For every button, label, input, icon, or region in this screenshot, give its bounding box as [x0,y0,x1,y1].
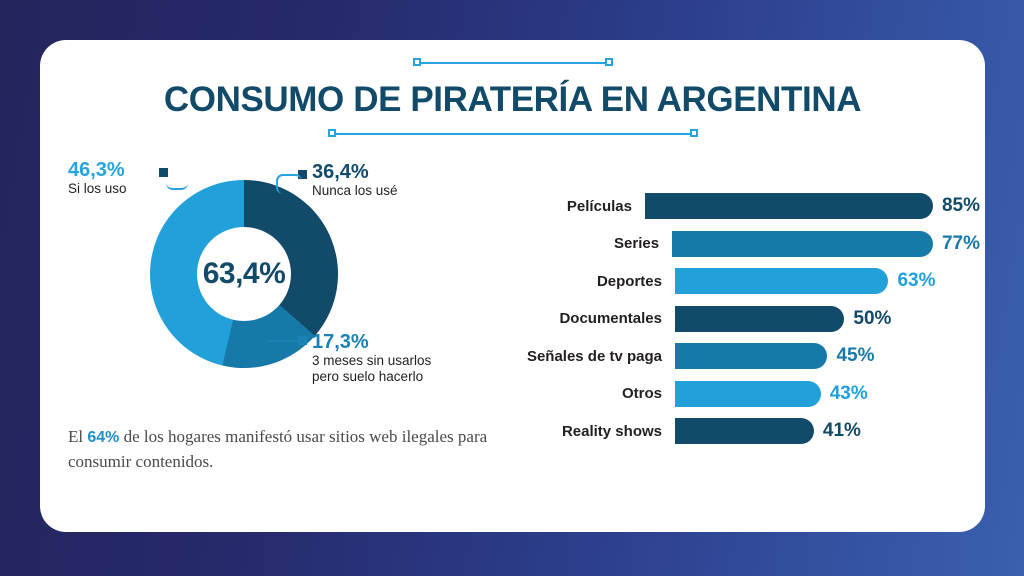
donut-hole: 63,4% [197,227,291,321]
bar-fill [672,231,933,257]
bar-track: 41% [675,418,980,444]
bar-category-label: Otros [510,385,675,402]
bar-row: Documentales50% [510,303,980,335]
bar-value-label: 77% [942,233,980,255]
bar-category-label: Reality shows [510,423,675,440]
bar-value-label: 63% [897,270,935,292]
bar-chart: Películas85%Series77%Deportes63%Document… [510,190,980,453]
donut-label-si-los-uso: 46,3% Si los uso [68,160,127,197]
bar-track: 50% [675,306,980,332]
footnote-text: El 64% de los hogares manifestó usar sit… [68,425,488,474]
rule-line [419,62,607,64]
bar-category-label: Series [510,235,672,252]
bar-value-label: 50% [853,308,891,330]
bar-fill [675,343,827,369]
leader-line [276,174,302,194]
bar-value-label: 43% [830,383,868,405]
decorative-rule-bottom [328,129,698,139]
bar-track: 77% [672,231,980,257]
bar-track: 63% [675,268,980,294]
title-block: CONSUMO DE PIRATERÍA EN ARGENTINA [40,58,985,139]
bar-category-label: Películas [510,198,645,215]
leader-line [268,340,300,342]
footnote-highlight: 64% [87,429,119,446]
bar-category-label: Señales de tv paga [510,348,675,365]
bar-fill [675,306,844,332]
donut-label-text-line1: 3 meses sin usarlos [312,353,480,369]
bar-track: 85% [645,193,980,219]
rule-cap-right-icon [690,129,698,137]
rule-cap-right-icon [605,58,613,66]
bar-value-label: 45% [836,345,874,367]
bar-row: Películas85% [510,190,980,222]
donut-label-text: Nunca los usé [312,183,398,199]
bar-fill [675,418,814,444]
footnote-rest: de los hogares manifestó usar sitios web… [68,427,487,471]
rule-line [334,133,692,135]
donut-label-text-line2: pero suelo hacerlo [312,369,480,385]
donut-label-value: 46,3% [68,160,127,181]
bar-track: 45% [675,343,980,369]
bar-row: Series77% [510,228,980,260]
donut-center-value: 63,4% [203,257,286,291]
bar-row: Reality shows41% [510,415,980,447]
footnote-prefix: El [68,427,87,446]
donut-label-value: 36,4% [312,162,398,183]
bar-row: Otros43% [510,378,980,410]
bar-row: Deportes63% [510,265,980,297]
decorative-rule-top [413,58,613,68]
bar-fill [645,193,933,219]
bar-row: Señales de tv paga45% [510,340,980,372]
donut-ring: 63,4% [150,180,338,368]
bar-category-label: Deportes [510,273,675,290]
bar-fill [675,381,821,407]
bar-fill [675,268,888,294]
donut-chart: 63,4% 46,3% Si los uso 36,4% Nunca los u… [40,150,500,450]
infographic-card: CONSUMO DE PIRATERÍA EN ARGENTINA 63,4% … [40,40,985,532]
bar-track: 43% [675,381,980,407]
bar-category-label: Documentales [510,310,675,327]
leader-line [166,172,188,190]
donut-label-value: 17,3% [312,332,480,353]
donut-label-nunca-los-use: 36,4% Nunca los usé [312,162,398,199]
donut-label-3-meses: 17,3% 3 meses sin usarlos pero suelo hac… [312,332,480,386]
donut-label-text: Si los uso [68,181,127,197]
bar-value-label: 41% [823,420,861,442]
bar-value-label: 85% [942,195,980,217]
page-title: CONSUMO DE PIRATERÍA EN ARGENTINA [40,80,985,120]
